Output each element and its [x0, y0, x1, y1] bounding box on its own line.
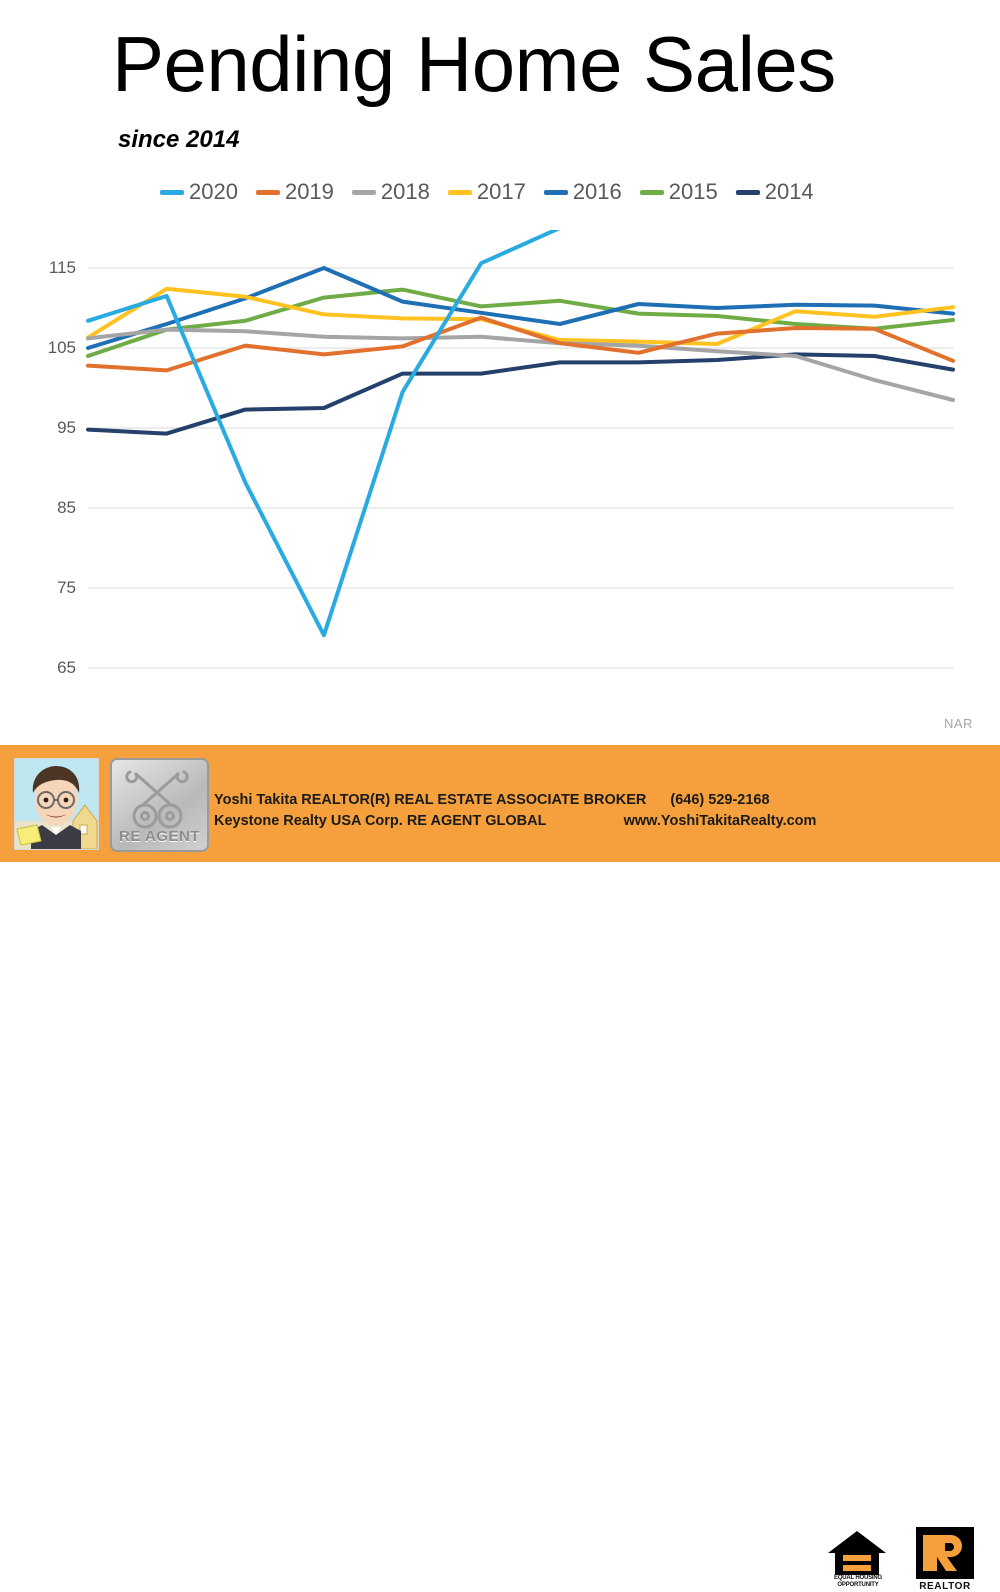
equal-housing-caption: EQUAL HOUSING OPPORTUNITY: [820, 1575, 896, 1588]
chart-legend: 2020201920182017201620152014: [160, 178, 860, 206]
legend-item-2018[interactable]: 2018: [352, 181, 430, 203]
agent-avatar: [14, 758, 99, 850]
pending-home-sales-infographic: Pending Home Sales since 2014 2020201920…: [0, 0, 1000, 862]
legend-item-2016[interactable]: 2016: [544, 181, 622, 203]
legend-swatch-2020: [160, 190, 184, 195]
legend-label-2014: 2014: [765, 181, 814, 203]
legend-label-2018: 2018: [381, 181, 430, 203]
legend-swatch-2017: [448, 190, 472, 195]
agent-company-line: Keystone Realty USA Corp. RE AGENT GLOBA…: [214, 813, 546, 829]
realtor-caption: REALTOR: [910, 1581, 980, 1592]
legend-swatch-2014: [736, 190, 760, 195]
legend-item-2020[interactable]: 2020: [160, 181, 238, 203]
re-agent-logo: RE AGENT: [110, 758, 209, 852]
agent-phone[interactable]: (646) 529-2168: [620, 792, 820, 808]
legend-item-2017[interactable]: 2017: [448, 181, 526, 203]
legend-label-2017: 2017: [477, 181, 526, 203]
chart-source-label: NAR: [944, 716, 973, 731]
series-line-2015[interactable]: [88, 290, 953, 356]
page-subtitle: since 2014: [118, 126, 239, 154]
series-line-2018[interactable]: [88, 330, 953, 400]
legend-label-2019: 2019: [285, 181, 334, 203]
legend-swatch-2016: [544, 190, 568, 195]
footer-bar: RE AGENT Yoshi Takita REALTOR(R) REAL ES…: [0, 745, 1000, 862]
chart-plot-area: 65758595105115: [0, 230, 1000, 700]
re-agent-logo-text: RE AGENT: [112, 828, 207, 845]
agent-name-line: Yoshi Takita REALTOR(R) REAL ESTATE ASSO…: [214, 792, 646, 808]
agent-website[interactable]: www.YoshiTakitaRealty.com: [620, 813, 820, 829]
legend-label-2015: 2015: [669, 181, 718, 203]
legend-swatch-2015: [640, 190, 664, 195]
legend-item-2014[interactable]: 2014: [736, 181, 814, 203]
series-line-2016[interactable]: [88, 268, 953, 348]
page-title: Pending Home Sales: [112, 24, 836, 104]
legend-swatch-2019: [256, 190, 280, 195]
legend-label-2016: 2016: [573, 181, 622, 203]
line-chart: [0, 230, 1000, 700]
legend-label-2020: 2020: [189, 181, 238, 203]
legend-item-2015[interactable]: 2015: [640, 181, 718, 203]
legend-swatch-2018: [352, 190, 376, 195]
realtor-icon: [916, 1527, 974, 1585]
legend-item-2019[interactable]: 2019: [256, 181, 334, 203]
